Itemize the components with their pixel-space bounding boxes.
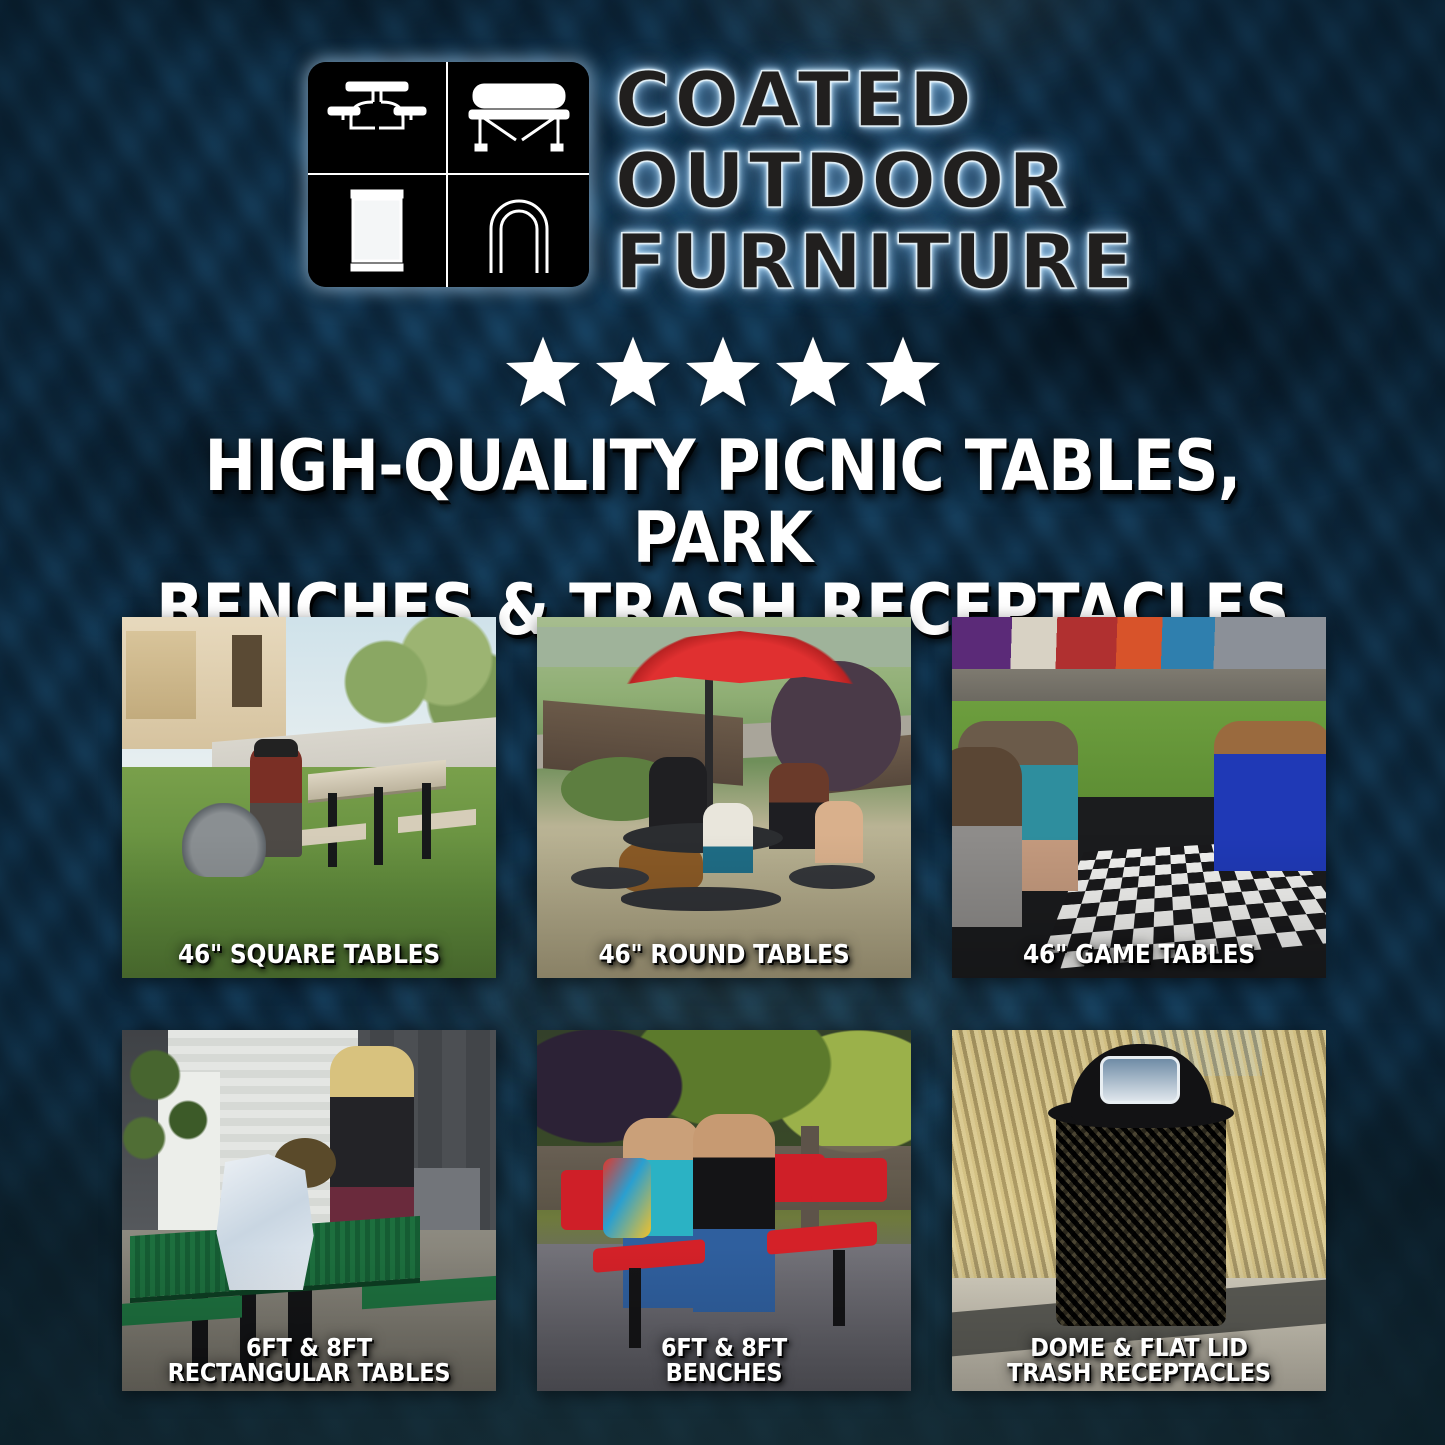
product-tile-rectangular-tables[interactable]: 6FT & 8FT RECTANGULAR TABLES: [122, 1030, 496, 1391]
star-rating: [0, 336, 1445, 408]
product-tile-trash-receptacles[interactable]: DOME & FLAT LID TRASH RECEPTACLES: [952, 1030, 1326, 1391]
product-tile-benches[interactable]: 6FT & 8FT BENCHES: [537, 1030, 911, 1391]
poster-content: COATED OUTDOOR FURNITURE HIGH-QUALITY PI…: [0, 0, 1445, 1445]
product-caption: 6FT & 8FT BENCHES: [561, 1335, 887, 1385]
product-photo-round-tables: [537, 617, 911, 978]
product-caption: 6FT & 8FT RECTANGULAR TABLES: [146, 1335, 472, 1385]
product-tile-square-tables[interactable]: 46" SQUARE TABLES: [122, 617, 496, 978]
product-photo-game-tables: [952, 617, 1326, 978]
bench-side-icon: [448, 62, 589, 175]
brand-name-line-2: OUTDOOR: [615, 145, 1137, 218]
star-icon: [596, 336, 670, 408]
product-caption: 46" GAME TABLES: [976, 942, 1302, 968]
product-grid: 46" SQUARE TABLES: [122, 617, 1325, 1391]
bike-rack-arch-icon: [448, 175, 589, 288]
brand-wordmark: COATED OUTDOOR FURNITURE: [615, 62, 1137, 299]
headline-line-1: HIGH-QUALITY PICNIC TABLES, PARK: [140, 430, 1306, 574]
star-icon: [506, 336, 580, 408]
product-caption: 46" ROUND TABLES: [561, 942, 887, 968]
product-photo-square-tables: [122, 617, 496, 978]
star-icon: [776, 336, 850, 408]
promotional-poster: COATED OUTDOOR FURNITURE HIGH-QUALITY PI…: [0, 0, 1445, 1445]
trash-receptacle-icon: [308, 175, 449, 288]
product-caption: 46" SQUARE TABLES: [146, 942, 472, 968]
logo-icon-grid: [308, 62, 589, 287]
star-icon: [866, 336, 940, 408]
star-icon: [686, 336, 760, 408]
product-caption: DOME & FLAT LID TRASH RECEPTACLES: [976, 1335, 1302, 1385]
brand-name-line-1: COATED: [615, 64, 1137, 137]
brand-logo: COATED OUTDOOR FURNITURE: [0, 62, 1445, 299]
brand-name-line-3: FURNITURE: [615, 226, 1137, 299]
product-tile-game-tables[interactable]: 46" GAME TABLES: [952, 617, 1326, 978]
headline: HIGH-QUALITY PICNIC TABLES, PARK BENCHES…: [140, 430, 1306, 646]
picnic-table-icon: [308, 62, 449, 175]
product-tile-round-tables[interactable]: 46" ROUND TABLES: [537, 617, 911, 978]
